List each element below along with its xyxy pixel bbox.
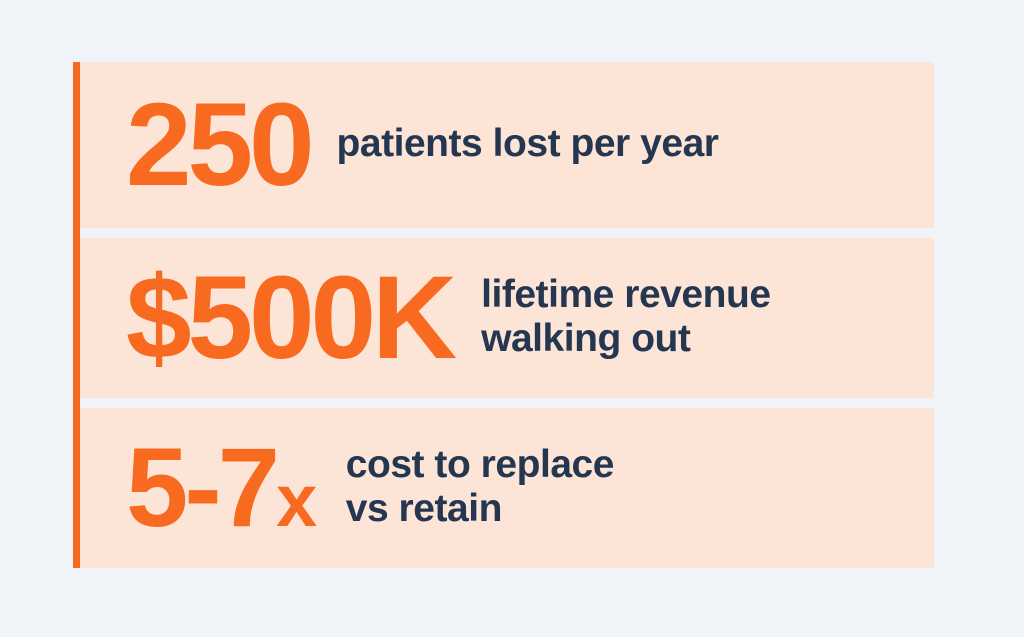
accent-rail xyxy=(73,62,80,568)
stat-value: 250 xyxy=(126,86,311,204)
stat-rows: 250 patients lost per year $500K lifetim… xyxy=(80,62,934,568)
stat-value-number: 5-7 xyxy=(126,425,276,550)
row-divider-gap xyxy=(80,398,934,408)
stat-row: 5-7x cost to replace vs retain xyxy=(80,408,934,568)
stat-label: patients lost per year xyxy=(337,122,719,168)
stat-label: cost to replace vs retain xyxy=(346,443,614,532)
stat-row: 250 patients lost per year xyxy=(80,62,934,228)
stat-value-suffix: x xyxy=(276,459,316,542)
stat-value-number: $500K xyxy=(126,252,453,384)
stat-value: 5-7x xyxy=(126,432,316,544)
stat-value: $500K xyxy=(126,259,453,377)
stat-value-number: 250 xyxy=(126,79,311,211)
stat-block: 250 patients lost per year $500K lifetim… xyxy=(73,62,934,568)
stat-label: lifetime revenue walking out xyxy=(481,273,770,362)
infographic-stage: 250 patients lost per year $500K lifetim… xyxy=(0,0,1024,637)
stat-row: $500K lifetime revenue walking out xyxy=(80,238,934,398)
row-divider-gap xyxy=(80,228,934,238)
